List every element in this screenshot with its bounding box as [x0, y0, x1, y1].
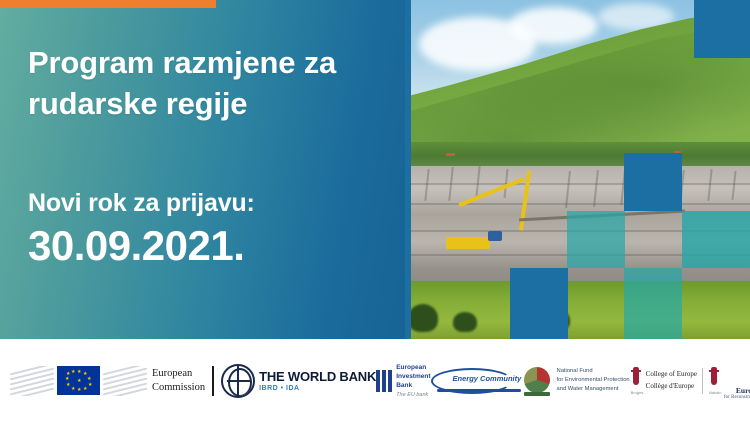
- foreground-bush: [408, 304, 438, 332]
- logo-energy-community: Energy Community: [431, 366, 523, 396]
- logo-sublabel-ebrd: for Reconstruction and Development: [724, 395, 750, 400]
- national-fund-icon: [523, 366, 553, 396]
- mine-erosion-stripe: [476, 166, 481, 198]
- mine-terrace: [405, 183, 750, 185]
- logo-divider: [212, 366, 214, 396]
- logo-campus-right: Natolin: [709, 390, 721, 395]
- globe-icon: [221, 364, 255, 398]
- logo-tagline-eib: The EU bank: [396, 392, 430, 398]
- eu-flag-icon: ★ ★ ★ ★ ★ ★ ★ ★ ★ ★ ★ ★: [57, 366, 100, 395]
- mine-erosion-stripe: [593, 170, 599, 207]
- logo-divider: [702, 368, 703, 394]
- dragline-cab: [488, 231, 502, 241]
- logo-label-national-fund: National Fund for Environmental Protecti…: [557, 367, 630, 393]
- village-house: [446, 153, 455, 156]
- deadline-label: Novi rok za prijavu:: [28, 188, 394, 218]
- eib-bars-icon: [376, 370, 392, 392]
- mosaic-square: [567, 211, 625, 268]
- logo-label-energy-community: Energy Community: [453, 374, 522, 383]
- headline-line-1: Program razmjene za: [28, 42, 394, 83]
- deadline-date: 30.09.2021.: [28, 222, 394, 270]
- logo-label-ebrd: European Bank: [724, 386, 750, 395]
- page-title: Program razmjene za rudarske regije: [28, 42, 394, 124]
- eu-wave-icon: [10, 366, 54, 396]
- promotional-banner: Program razmjene za rudarske regije Novi…: [0, 0, 750, 422]
- logo-national-fund: National Fund for Environmental Protecti…: [523, 366, 630, 396]
- logo-label-eib: European Investment Bank: [396, 363, 430, 390]
- logo-ebrd: European Bank for Reconstruction and Dev…: [724, 362, 750, 400]
- mosaic-square: [694, 0, 750, 58]
- gradient-panel: Program razmjene za rudarske regije Novi…: [0, 0, 405, 339]
- mine-erosion-stripe: [731, 171, 736, 200]
- dragline-body: [446, 237, 490, 249]
- logo-label-european-commission: European Commission: [152, 367, 205, 393]
- energy-bar-icon: [437, 389, 521, 392]
- logo-european-commission: ★ ★ ★ ★ ★ ★ ★ ★ ★ ★ ★ ★ European Commiss…: [10, 366, 221, 396]
- logo-label-college-of-europe: College of Europe Collège d'Europe: [646, 369, 697, 391]
- logo-campus-left: Bruges: [631, 390, 644, 395]
- mosaic-square: [682, 211, 750, 268]
- mosaic-square: [624, 153, 682, 211]
- college-crest-icon: Bruges: [630, 366, 642, 396]
- logo-sublabel-world-bank: IBRD • IDA: [259, 385, 376, 392]
- logo-college-of-europe: Bruges College of Europe Collège d'Europ…: [630, 366, 724, 396]
- eu-wave-icon: [103, 366, 147, 396]
- headline-line-2: rudarske regije: [28, 83, 394, 124]
- mine-terrace: [405, 203, 750, 205]
- logo-world-bank: THE WORLD BANK IBRD • IDA: [221, 364, 376, 398]
- logo-european-investment-bank: European Investment Bank The EU bank: [376, 363, 430, 398]
- mosaic-square: [510, 268, 568, 339]
- logo-label-world-bank: THE WORLD BANK: [259, 369, 376, 384]
- foreground-bush: [453, 312, 477, 332]
- orange-accent-bar: [0, 0, 216, 8]
- mosaic-square: [405, 0, 411, 339]
- photo-panel: [405, 0, 750, 339]
- mosaic-square: [624, 268, 682, 339]
- partner-logo-band: ★ ★ ★ ★ ★ ★ ★ ★ ★ ★ ★ ★ European Commiss…: [0, 339, 750, 422]
- cloud-shape: [509, 7, 599, 44]
- college-crest-icon: Natolin: [708, 366, 720, 396]
